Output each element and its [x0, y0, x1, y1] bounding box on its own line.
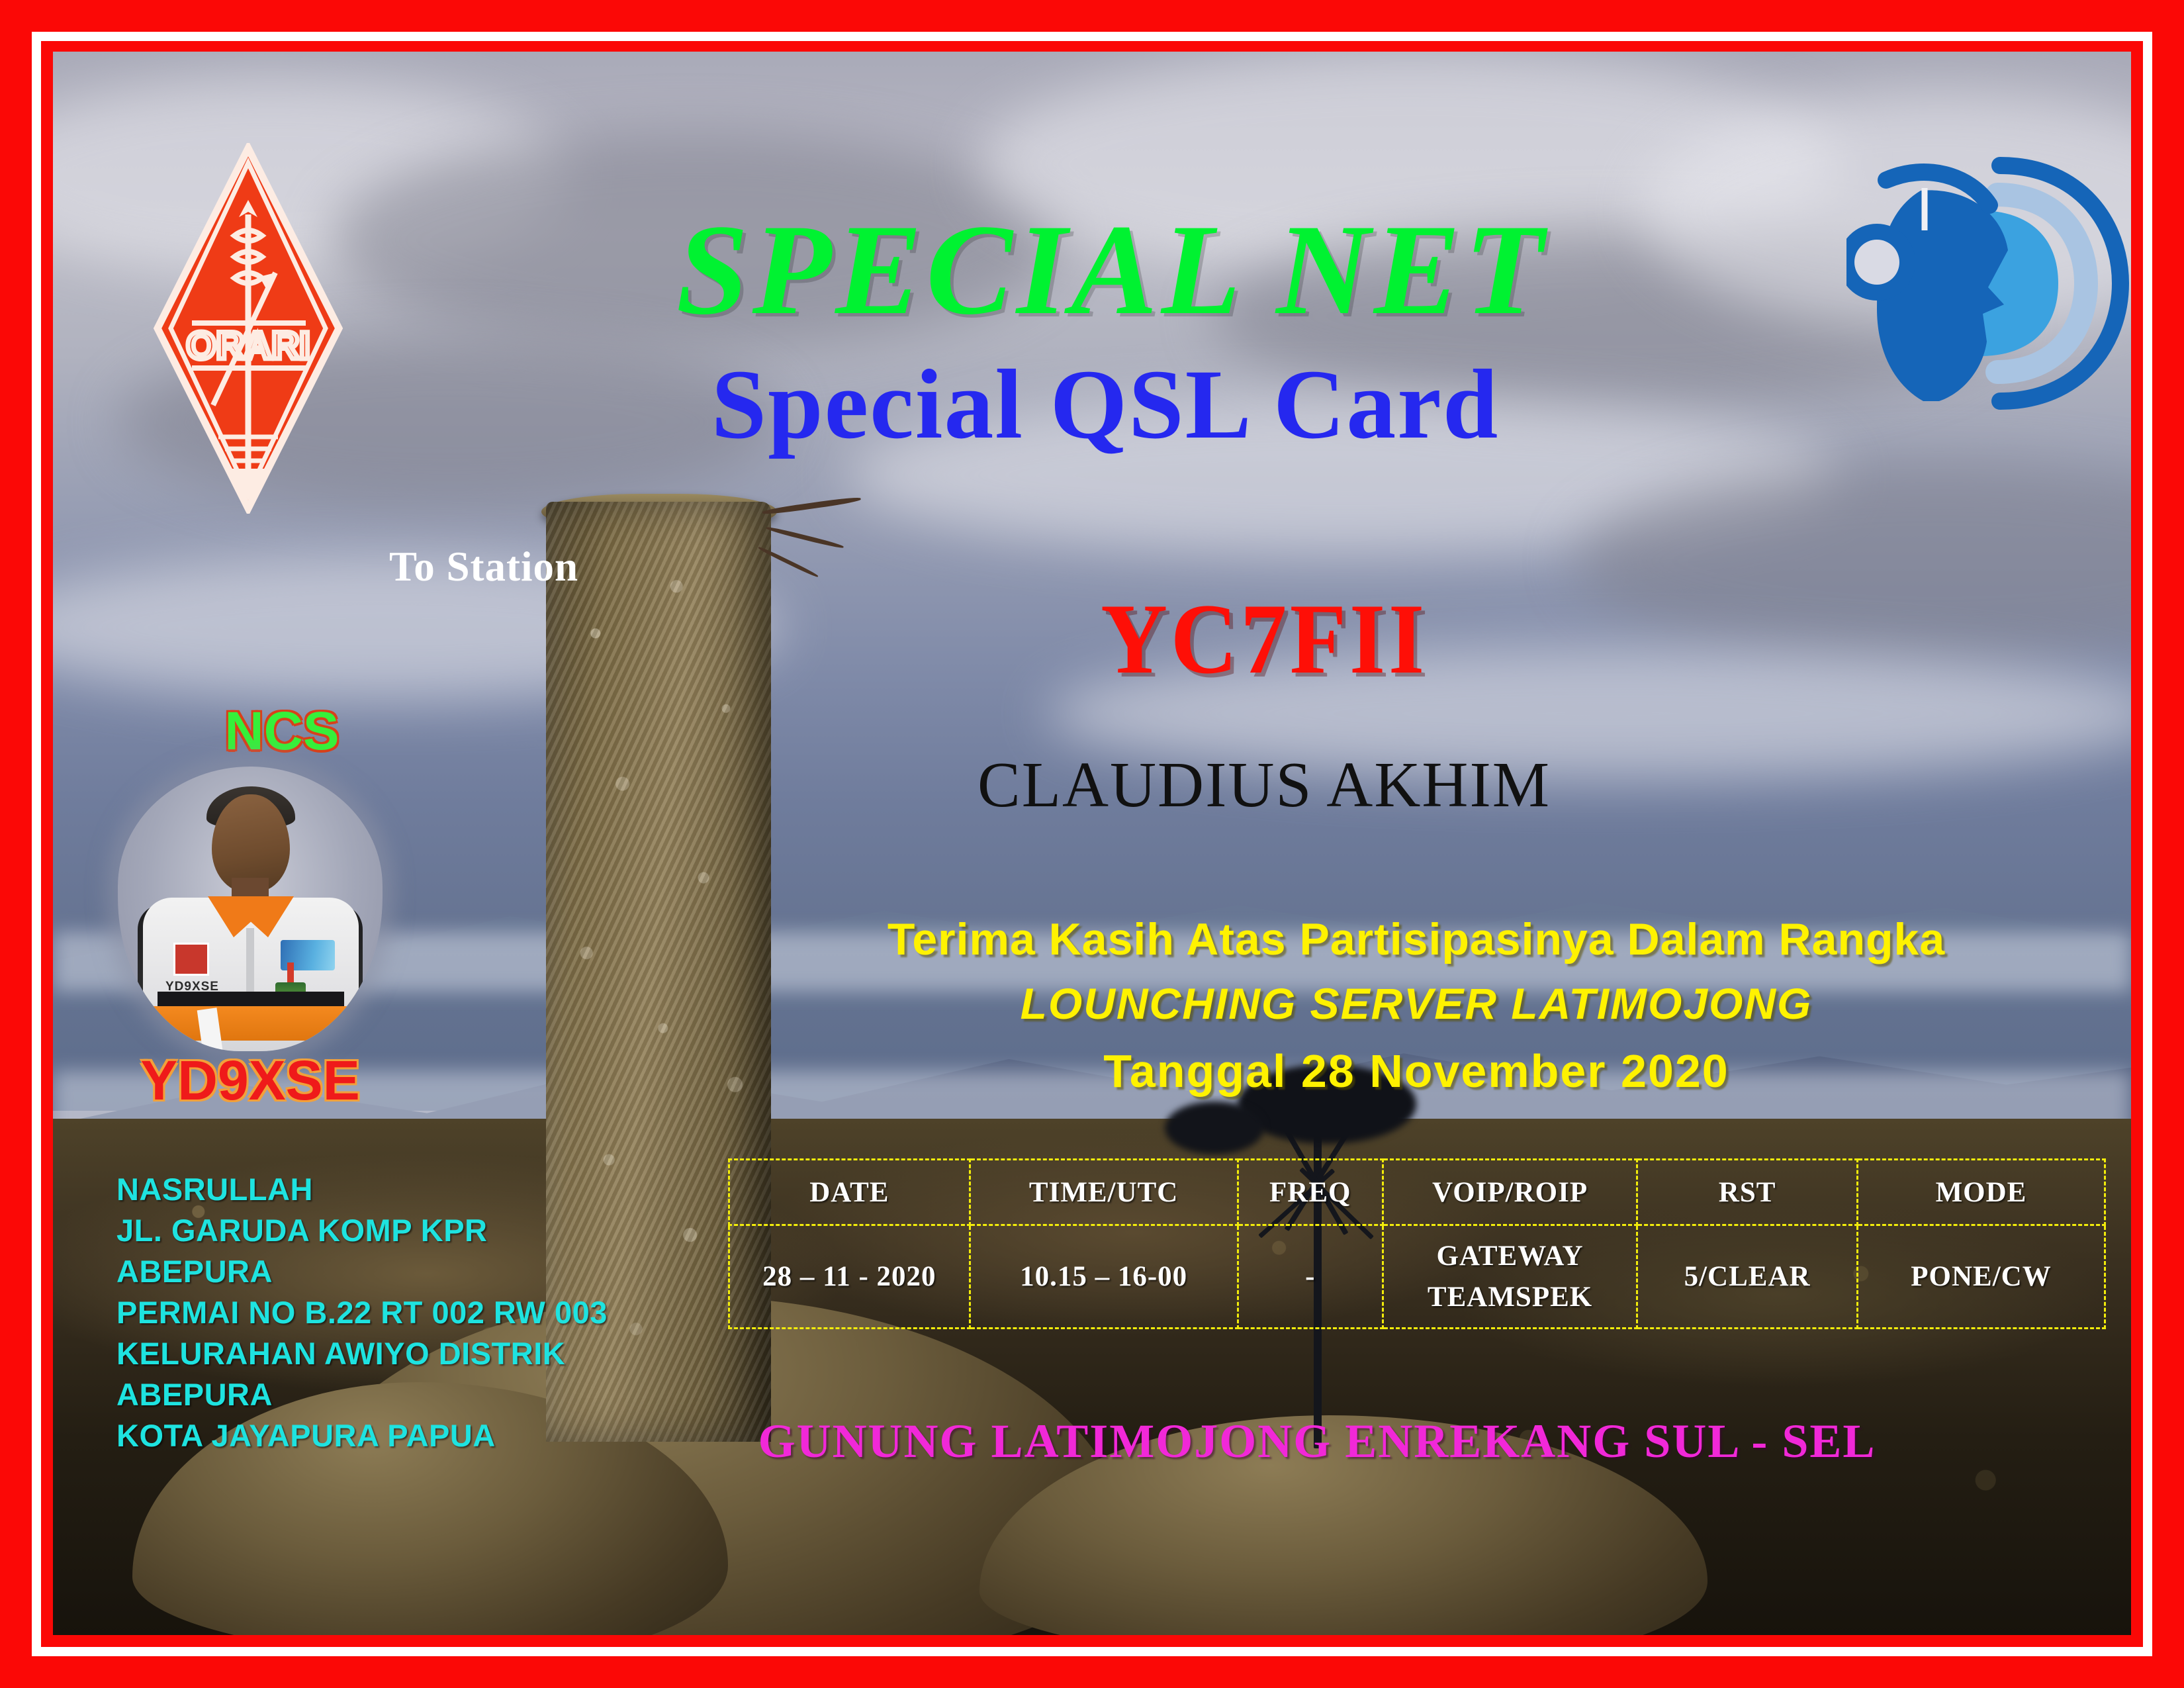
- cell-freq: -: [1238, 1225, 1383, 1329]
- footer-address: Address : amatir.latimojong.com: [1310, 1626, 2054, 1635]
- footer-slogan: "AMATIR RADIO ADALAH PROGRESIVE": [131, 1626, 1194, 1635]
- page-title: SPECIAL NET: [53, 205, 2131, 335]
- ncs-label: NCS: [183, 700, 381, 763]
- table-header-row: DATE TIME/UTC FREQ VOIP/ROIP RST MODE: [729, 1160, 2105, 1225]
- address-line: KOTA JAYAPURA PAPUA: [116, 1415, 608, 1456]
- column-header-rst: RST: [1637, 1160, 1858, 1225]
- to-station-label: To Station: [389, 543, 578, 591]
- cell-voip-line-2: TEAMSPEK: [1384, 1277, 1636, 1317]
- column-header-date: DATE: [729, 1160, 970, 1225]
- avatar-uniform-patch-left: [173, 943, 209, 976]
- location-line: GUNUNG LATIMOJONG ENREKANG SUL - SEL: [688, 1414, 1946, 1469]
- address-line: ABEPURA: [116, 1251, 608, 1292]
- qso-log-table: DATE TIME/UTC FREQ VOIP/ROIP RST MODE 28…: [728, 1158, 2106, 1329]
- tree-foliage: [1165, 1102, 1264, 1154]
- cell-voip: GATEWAY TEAMSPEK: [1383, 1225, 1637, 1329]
- thanks-line-1: Terima Kasih Atas Partisipasinya Dalam R…: [768, 914, 2065, 965]
- cell-mode: PONE/CW: [1857, 1225, 2105, 1329]
- avatar-sash: [147, 1006, 355, 1041]
- column-header-time: TIME/UTC: [970, 1160, 1238, 1225]
- thanks-line-3: Tanggal 28 November 2020: [768, 1045, 2065, 1098]
- address-line: KELURAHAN AWIYO DISTRIK: [116, 1333, 608, 1374]
- address-line: JL. GARUDA KOMP KPR: [116, 1210, 608, 1251]
- address-line: ABEPURA: [116, 1374, 608, 1415]
- column-header-voip: VOIP/ROIP: [1383, 1160, 1637, 1225]
- ncs-operator-avatar: YD9XSE: [118, 767, 383, 1051]
- operator-name: CLAUDIUS AKHIM: [913, 748, 1615, 821]
- avatar-lanyard: [287, 962, 294, 985]
- qsl-card: ORARI SPECIAL NET Special QSL Card: [0, 0, 2184, 1688]
- address-line: PERMAI NO B.22 RT 002 RW 003: [116, 1292, 608, 1333]
- table-row: 28 – 11 - 2020 10.15 – 16-00 - GATEWAY T…: [729, 1225, 2105, 1329]
- background-photo-mountain-summit: ORARI SPECIAL NET Special QSL Card: [53, 52, 2131, 1635]
- column-header-freq: FREQ: [1238, 1160, 1383, 1225]
- address-line: NASRULLAH: [116, 1169, 608, 1210]
- avatar-belt: [158, 992, 344, 1006]
- column-header-mode: MODE: [1857, 1160, 2105, 1225]
- sender-address-block: NASRULLAH JL. GARUDA KOMP KPR ABEPURA PE…: [116, 1169, 608, 1456]
- ncs-callsign: YD9XSE: [119, 1049, 381, 1113]
- cell-time: 10.15 – 16-00: [970, 1225, 1238, 1329]
- thanks-line-2: LOUNCHING SERVER LATIMOJONG: [768, 978, 2065, 1029]
- station-callsign: YC7FII: [990, 581, 1538, 696]
- cell-date: 28 – 11 - 2020: [729, 1225, 970, 1329]
- page-subtitle: Special QSL Card: [53, 355, 2131, 454]
- cell-rst: 5/CLEAR: [1637, 1225, 1858, 1329]
- cell-voip-line-1: GATEWAY: [1384, 1236, 1636, 1276]
